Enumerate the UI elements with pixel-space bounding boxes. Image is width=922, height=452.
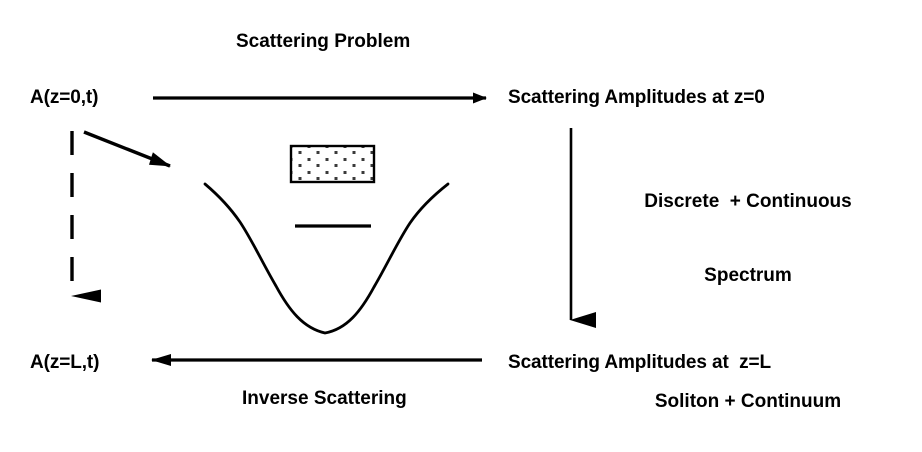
annotation-spectrum-line1: Discrete + Continuous	[598, 190, 898, 215]
edge-label-scattering-problem: Scattering Problem	[236, 30, 410, 53]
annotation-soliton-continuum: Soliton + Continuum	[598, 390, 898, 415]
annotation-spectrum-line2: Spectrum	[598, 264, 898, 289]
diagram-canvas: A(z=0,t) A(z=L,t) Scattering Amplitudes …	[0, 0, 922, 452]
node-label-amplitudes-z0: Scattering Amplitudes at z=0	[508, 86, 765, 109]
node-label-output-field: A(z=L,t)	[30, 351, 99, 374]
continuum-band-box	[291, 146, 374, 182]
annotation-spectrum: Discrete + Continuous Spectrum	[598, 141, 898, 339]
edge-label-inverse-scattering: Inverse Scattering	[242, 387, 407, 410]
pulse-pointer-arrow	[84, 132, 170, 166]
node-label-amplitudes-zl: Scattering Amplitudes at z=L	[508, 351, 771, 374]
soliton-pulse-curve	[205, 184, 448, 333]
node-label-input-field: A(z=0,t)	[30, 86, 98, 109]
